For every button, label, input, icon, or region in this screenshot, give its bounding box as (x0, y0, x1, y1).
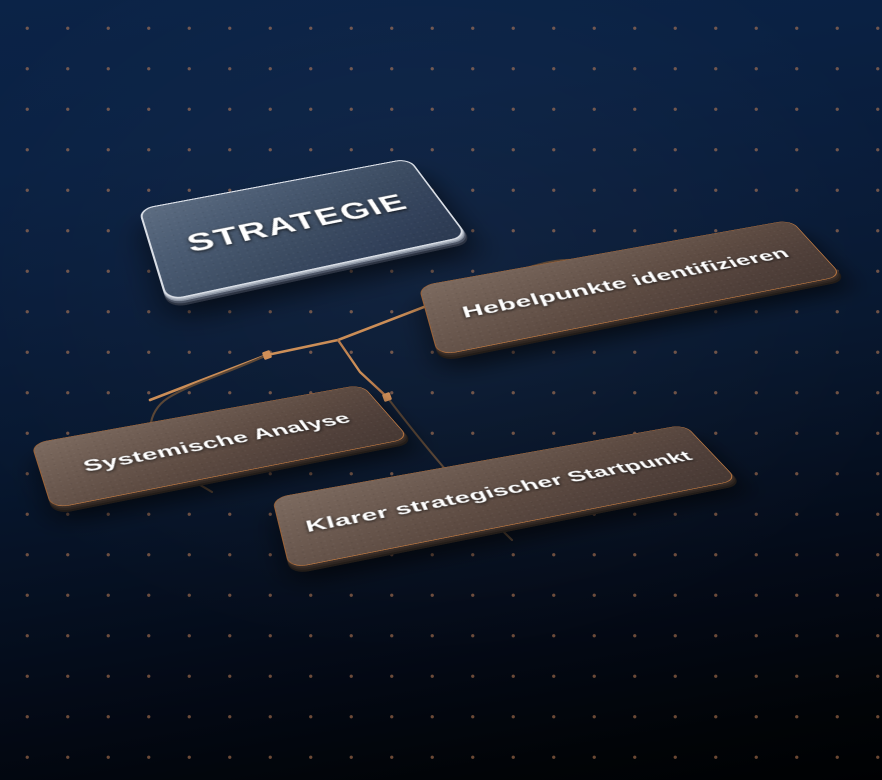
junction-dot-bottom (382, 392, 392, 402)
root-node-label: STRATEGIE (183, 190, 413, 259)
mindmap-root-node[interactable]: STRATEGIE (138, 158, 468, 301)
branch-node-label: Klarer strategischer Startpunkt (303, 448, 696, 536)
branch-node-label: Systemische Analyse (80, 410, 355, 476)
mindmap-canvas[interactable]: STRATEGIE Hebelpunkte identifizieren Sys… (0, 0, 882, 780)
junction-dot-left (262, 350, 272, 360)
mindmap-branch-node-hebelpunkte[interactable]: Hebelpunkte identifizieren (418, 220, 842, 356)
branch-node-label: Hebelpunkte identifizieren (460, 245, 794, 322)
background-dot-grid (0, 0, 882, 780)
connector-layer (0, 0, 882, 780)
background-vignette (0, 0, 882, 780)
